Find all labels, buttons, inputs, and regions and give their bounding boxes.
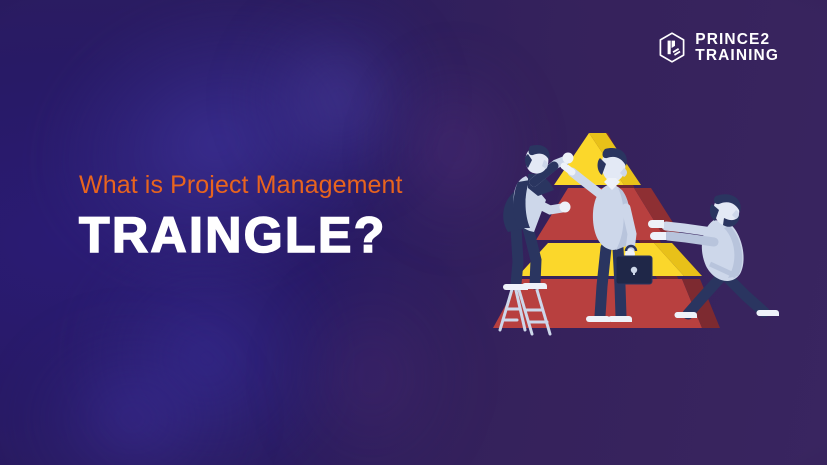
promo-banner: PRINCE2 TRAINING What is Project Managem… (0, 0, 827, 465)
headline-text: TRAINGLE? (79, 209, 403, 262)
brand-logo[interactable]: PRINCE2 TRAINING (658, 32, 779, 64)
headline-block: What is Project Management TRAINGLE? (79, 172, 403, 261)
project-management-triangle-illustration (488, 128, 798, 343)
kicker-text: What is Project Management (79, 172, 403, 200)
prince2-hexagon-icon (658, 32, 686, 63)
logo-line-2: TRAINING (695, 48, 779, 64)
illustration-svg (488, 128, 798, 343)
logo-line-1: PRINCE2 (695, 32, 779, 48)
logo-wordmark: PRINCE2 TRAINING (695, 32, 779, 64)
